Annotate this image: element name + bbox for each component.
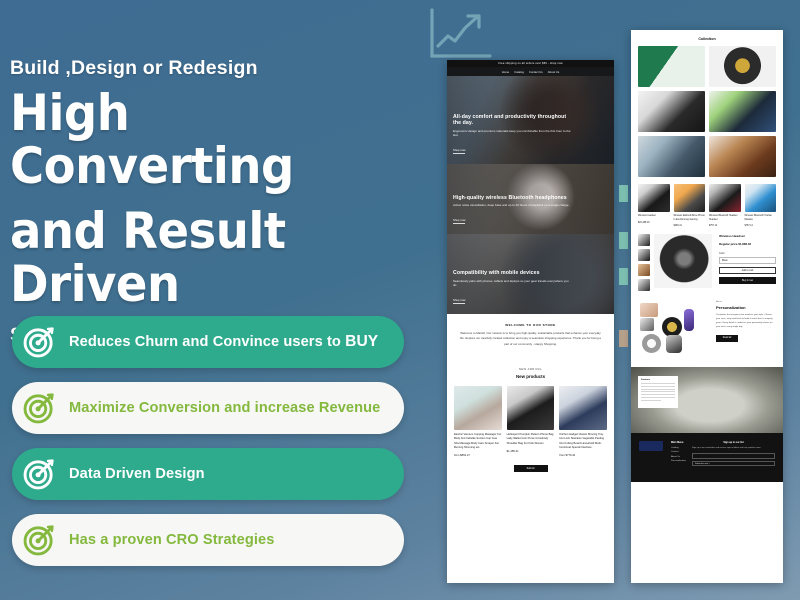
signup-heading: Sign up to our list [692, 441, 775, 444]
product-card[interactable]: Hollosport Pumpkin Pattern Phone Bag Lad… [507, 386, 555, 457]
accent-mark-1 [619, 185, 628, 202]
product-price: $1,485.41 [507, 450, 555, 453]
banner-card-title: Features [641, 379, 675, 381]
subscribe-button[interactable]: Subscribe now > [692, 461, 775, 467]
product-image [507, 386, 555, 430]
headline-line-1: High Converting [10, 84, 294, 195]
hero-section-2: High-quality wireless Bluetooth headphon… [447, 164, 614, 234]
signup-body: Sign up to our newsletter and receive sp… [692, 447, 775, 450]
footer-menu-heading: Main Menu [671, 441, 686, 444]
personalization-body: Customize the timepiece that matches you… [716, 314, 776, 330]
nav-item-catalog[interactable]: Catalog [514, 70, 524, 74]
product-price: from $779.42 [559, 454, 607, 457]
hero-3-body: Seamlessly pairs with phones, tablets an… [453, 279, 571, 288]
tech-accessories-tile[interactable] [709, 91, 776, 132]
thumbnail[interactable] [638, 264, 650, 276]
product-image [674, 184, 706, 212]
feature-pill-2-label: Maximize Conversion and increase Revenue [69, 400, 380, 416]
growth-chart-icon [424, 6, 496, 64]
product-card[interactable]: Kitchen Gadget Classic Mincing Tray Hot … [559, 386, 607, 457]
headline-line-2: and Result Driven [10, 205, 419, 311]
mockup-nav[interactable]: Home Catalog Contact Us About Us [447, 67, 614, 76]
accent-mark-4 [619, 330, 628, 347]
new-product-tile[interactable] [638, 46, 705, 87]
feature-pill-list: Reduces Churn and Convince users to BUY … [12, 316, 404, 580]
footer-link-catalog[interactable]: Catalog [671, 447, 686, 449]
collection-grid [631, 46, 783, 177]
hero-1-body: Ergonomic design and premium materials k… [453, 129, 571, 138]
hero-3-title: Compatibility with mobile devices [453, 270, 571, 276]
submit-button[interactable]: Submit [514, 465, 548, 472]
product-price: $480.41 [674, 225, 706, 227]
page-title: High Converting and Result Driven [10, 87, 419, 311]
announcement-bar: Free shipping on all orders over $50 - s… [447, 60, 614, 67]
hero-2-button[interactable]: Shop now [453, 218, 465, 224]
product-name: Wireless Earbuds Bone Phone In Ear Runni… [674, 215, 706, 222]
action-camera-kit-tile[interactable] [638, 91, 705, 132]
personalization-section: About Personalization Customize the time… [631, 291, 783, 357]
personalization-title: Personalization [716, 305, 776, 310]
feature-pill-1[interactable]: Reduces Churn and Convince users to BUY [12, 316, 404, 368]
feature-pill-4[interactable]: Has a proven CRO Strategies [12, 514, 404, 566]
color-select[interactable]: Black [719, 257, 776, 264]
product-row: Wireless headset $22,488.16 Wireless Ear… [631, 177, 783, 227]
product-price: $757.14 [709, 225, 741, 227]
product-info: Wireless Headset Regular price $1,886.32… [716, 234, 776, 291]
product-price: from $862.27 [454, 454, 502, 457]
newsletter-signup: Sign up to our list Sign up to our newsl… [692, 441, 775, 466]
accent-mark-2 [619, 232, 628, 249]
footer-link-about[interactable]: About Us [671, 456, 686, 458]
hero-2-title: High-quality wireless Bluetooth headphon… [453, 195, 571, 201]
eyebrow-text: Build ,Design or Redesign [10, 58, 450, 79]
lifestyle-banner: Features [631, 367, 783, 433]
brand-logo [639, 441, 665, 466]
thumbnail[interactable] [638, 249, 650, 261]
new-arrival-kicker: NEW ARRIVAL [447, 367, 614, 371]
footer-menu: Main Menu Catalog Contact About Us Perso… [671, 441, 686, 466]
welcome-section: WELCOME TO OUR STORE Welcome to Martell.… [447, 314, 614, 353]
add-to-cart-button[interactable]: Add to cart [719, 267, 776, 274]
feature-pill-1-label: Reduces Churn and Convince users to BUY [69, 333, 378, 351]
new-arrival-heading: NEW ARRIVAL New products [447, 367, 614, 379]
website-mockup-middle[interactable]: Free shipping on all orders over $50 - s… [447, 60, 614, 583]
email-field[interactable] [692, 453, 775, 459]
product-image [454, 386, 502, 430]
hero-section-1: All-day comfort and productivity through… [447, 76, 614, 164]
poster-canvas: Build ,Design or Redesign High Convertin… [0, 0, 800, 600]
product-card[interactable]: Electric Vacuum Cupping Massager For Bod… [454, 386, 502, 457]
feature-pill-1-emphasis: BUY [345, 333, 378, 350]
thumbnail-strip[interactable] [638, 234, 650, 291]
feature-pill-2[interactable]: Maximize Conversion and increase Revenue [12, 382, 404, 434]
list-item[interactable]: Wireless Earbuds Bone Phone In Ear Runni… [674, 184, 706, 227]
collection-title: Collection [631, 30, 783, 46]
product-price: $787.14 [745, 225, 777, 227]
hero-1-title: All-day comfort and productivity through… [453, 114, 571, 126]
target-icon [21, 522, 57, 558]
product-name: Wireless Bluetooth Tracker Massive [745, 215, 777, 222]
footer-link-personalization[interactable]: Personalization [671, 460, 686, 462]
target-icon [21, 456, 57, 492]
personalization-copy: About Personalization Customize the time… [716, 301, 776, 357]
hero-3-button[interactable]: Shop now [453, 298, 465, 304]
pdp-price: Regular price $1,886.32 [719, 242, 776, 246]
personalization-kicker: About [716, 301, 776, 303]
product-name: Wireless headset [638, 215, 670, 219]
pdp-product-name: Wireless Headset [719, 234, 776, 238]
footer-link-contact[interactable]: Contact [671, 451, 686, 453]
uv-sanitizer-tile[interactable] [638, 136, 705, 177]
hero-2-body: Active noise cancellation, deep bass and… [453, 203, 571, 208]
mockup-footer: Main Menu Catalog Contact About Us Perso… [631, 433, 783, 482]
product-image [745, 184, 777, 212]
product-grid: Electric Vacuum Cupping Massager For Bod… [447, 379, 614, 457]
product-detail-section: Wireless Headset Regular price $1,886.32… [631, 227, 783, 291]
target-icon [21, 324, 57, 360]
list-item[interactable]: Wireless Bluetooth Tracker Massive $787.… [745, 184, 777, 227]
product-image [709, 184, 741, 212]
thumbnail[interactable] [638, 279, 650, 291]
product-name: Hollosport Pumpkin Pattern Phone Bag Lad… [507, 433, 555, 446]
hero-1-button[interactable]: Shop now [453, 148, 465, 154]
nav-item-contact[interactable]: Contact Us [529, 70, 543, 74]
target-icon [21, 390, 57, 426]
list-item[interactable]: Wireless headset $22,488.16 [638, 184, 670, 227]
list-item[interactable]: Wireless Bluetooth Headset Headset $757.… [709, 184, 741, 227]
accent-mark-3 [619, 268, 628, 285]
hero-section-3: Compatibility with mobile devices Seamle… [447, 234, 614, 314]
headline-block: Build ,Design or Redesign High Convertin… [10, 58, 450, 347]
product-price: $22,488.16 [638, 222, 670, 224]
thumbnail[interactable] [638, 234, 650, 246]
gold-watch-tile[interactable] [709, 46, 776, 87]
welcome-body: Welcome to Martell. Our mission is to br… [460, 331, 601, 347]
feature-pill-4-label: Has a proven CRO Strategies [69, 532, 274, 548]
product-image [559, 386, 607, 430]
nav-item-home[interactable]: Home [502, 70, 509, 74]
product-name: Electric Vacuum Cupping Massager For Bod… [454, 433, 502, 450]
pdp-option-label: Color [719, 252, 776, 255]
feature-pill-3-label: Data Driven Design [69, 466, 205, 482]
leather-strap-tile[interactable] [709, 136, 776, 177]
product-image [638, 184, 670, 212]
watch-collage [638, 301, 712, 357]
read-all-button[interactable]: Read all [716, 335, 738, 342]
website-mockup-right[interactable]: Collection Wireless headset $22,488.16 W… [631, 30, 783, 583]
nav-item-about[interactable]: About Us [548, 70, 560, 74]
welcome-kicker: WELCOME TO OUR STORE [460, 323, 601, 327]
banner-card: Features [638, 376, 678, 408]
product-name: Kitchen Gadget Classic Mincing Tray Hot … [559, 433, 607, 450]
buy-now-button[interactable]: Buy it now [719, 277, 776, 284]
feature-pill-3[interactable]: Data Driven Design [12, 448, 404, 500]
product-main-image [654, 234, 712, 288]
product-name: Wireless Bluetooth Headset Headset [709, 215, 741, 222]
